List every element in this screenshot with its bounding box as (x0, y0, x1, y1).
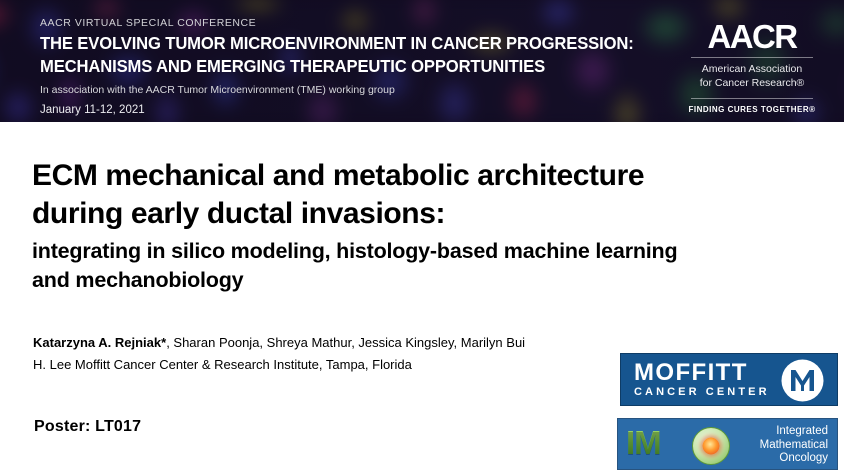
page-subtitle-line-2: and mechanobiology (32, 266, 812, 295)
imo-name-group: Integrated Mathematical Oncology (713, 425, 828, 466)
conference-headline-line-2: MECHANISMS AND EMERGING THERAPEUTIC OPPO… (40, 56, 629, 76)
page-title-line-2: during early ductal invasions: (32, 195, 812, 233)
moffitt-name: MOFFITT (634, 360, 770, 385)
page-subtitle-line-1: integrating in silico modeling, histolog… (32, 237, 812, 266)
aacr-logo-subtitle: American Association for Cancer Research… (682, 63, 822, 90)
conference-eyebrow: AACR VIRTUAL SPECIAL CONFERENCE (40, 16, 660, 30)
aacr-logo: AACR American Association for Cancer Res… (682, 20, 822, 114)
conference-headline-line-1: THE EVOLVING TUMOR MICROENVIRONMENT IN C… (40, 33, 629, 53)
aacr-subtitle-line-1: American Association (682, 63, 822, 77)
aacr-tagline: FINDING CURES TOGETHER® (682, 98, 822, 114)
imo-acronym: IM (626, 426, 661, 459)
integrated-mathematical-oncology-logo: IM Integrated Mathematical Oncology (617, 418, 838, 470)
moffitt-cancer-center-logo: MOFFITT CANCER CENTER (620, 353, 838, 406)
conference-association-note: In association with the AACR Tumor Micro… (40, 83, 660, 97)
imo-line-3: Oncology (713, 452, 828, 466)
banner-text-group: AACR VIRTUAL SPECIAL CONFERENCE THE EVOL… (40, 16, 660, 118)
imo-line-2: Mathematical (713, 439, 828, 453)
page-title-line-1: ECM mechanical and metabolic architectur… (32, 157, 812, 195)
co-authors: , Sharan Poonja, Shreya Mathur, Jessica … (166, 335, 525, 350)
poster-number: Poster: LT017 (34, 418, 141, 436)
imo-line-1: Integrated (713, 425, 828, 439)
conference-banner: AACR VIRTUAL SPECIAL CONFERENCE THE EVOL… (0, 0, 844, 122)
moffitt-subtitle: CANCER CENTER (634, 385, 770, 399)
authors-block: Katarzyna A. Rejniak*, Sharan Poonja, Sh… (33, 332, 613, 376)
aacr-wordmark: AACR (708, 20, 797, 54)
moffitt-wordmark-group: MOFFITT CANCER CENTER (634, 360, 770, 399)
conference-dates: January 11-12, 2021 (40, 103, 660, 118)
page-subtitle: integrating in silico modeling, histolog… (32, 237, 812, 295)
author-list: Katarzyna A. Rejniak*, Sharan Poonja, Sh… (33, 332, 613, 354)
aacr-subtitle-line-2: for Cancer Research® (682, 77, 822, 91)
moffitt-m-circle-icon (780, 358, 825, 403)
presentation-title-block: ECM mechanical and metabolic architectur… (32, 157, 812, 295)
lead-author: Katarzyna A. Rejniak* (33, 335, 166, 350)
affiliation: H. Lee Moffitt Cancer Center & Research … (33, 354, 613, 376)
